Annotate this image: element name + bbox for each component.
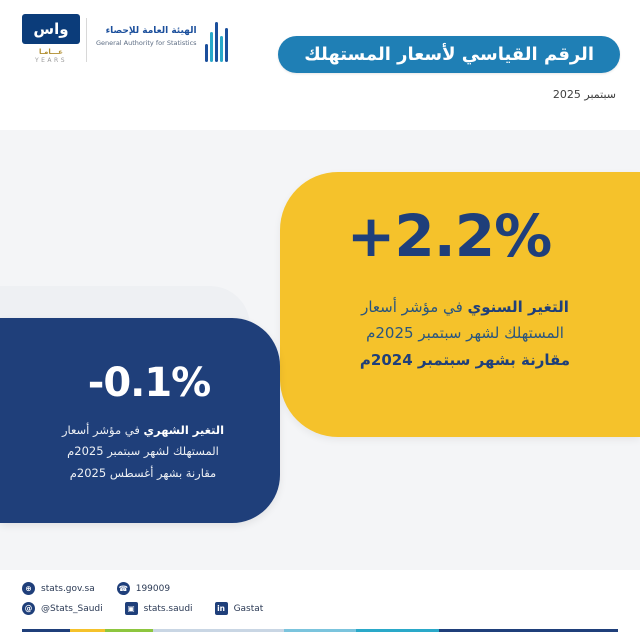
annual-desc-line3: مقارنة بشهر سبتمبر 2024م xyxy=(360,351,570,369)
footer-item-twitter[interactable]: @ @Stats_Saudi xyxy=(22,602,103,615)
gastat-name-block: الهيئة العامة للإحصاء General Authority … xyxy=(96,18,197,47)
monthly-change-value: -0.1% xyxy=(0,360,280,406)
gastat-bars-icon xyxy=(205,18,231,62)
footer: ⊕ stats.gov.sa ☎ 199009 @ @Stats_Saudi ▣… xyxy=(0,570,640,640)
report-month: سبتمبر 2025 xyxy=(553,88,616,101)
header: واس عـــامـا YEARS الهيئة العامة للإحصاء… xyxy=(0,0,640,130)
footer-item-phone[interactable]: ☎ 199009 xyxy=(117,582,170,595)
spa-logo-years: YEARS xyxy=(22,57,80,64)
spa-logo-mark: واس xyxy=(22,14,80,44)
annual-desc-line2: المستهلك لشهر سبتمبر 2025م xyxy=(366,324,564,342)
page-title-text: الرقم القياسي لأسعار المستهلك xyxy=(304,44,594,65)
footer-row-2: @ @Stats_Saudi ▣ stats.saudi in Gastat xyxy=(22,602,263,615)
footer-bar-segment xyxy=(439,629,618,632)
twitter-icon: @ xyxy=(22,602,35,615)
footer-label-website: stats.gov.sa xyxy=(41,584,95,594)
footer-item-instagram[interactable]: ▣ stats.saudi xyxy=(125,602,193,615)
gastat-name-en: General Authority for Statistics xyxy=(96,39,197,47)
linkedin-icon: in xyxy=(215,602,228,615)
spa-logo-group: واس عـــامـا YEARS xyxy=(18,14,80,74)
footer-bar-segment xyxy=(22,629,70,632)
footer-label-twitter: @Stats_Saudi xyxy=(41,604,103,614)
footer-label-instagram: stats.saudi xyxy=(144,604,193,614)
annual-desc-line1-light: في مؤشر أسعار xyxy=(361,298,463,316)
header-divider xyxy=(86,18,87,62)
globe-icon: ⊕ xyxy=(22,582,35,595)
footer-bar-segment xyxy=(284,629,356,632)
monthly-desc-line1-bold: التغير الشهري xyxy=(144,423,225,437)
annual-change-value: +2.2% xyxy=(280,202,640,270)
gastat-logo-group: الهيئة العامة للإحصاء General Authority … xyxy=(96,18,231,62)
footer-bar-segment xyxy=(70,629,106,632)
monthly-desc-line2: المستهلك لشهر سبتمبر 2025م xyxy=(67,444,219,458)
spa-logo-sub: عـــامـا xyxy=(22,48,80,56)
footer-label-phone: 199009 xyxy=(136,584,170,594)
page-title: الرقم القياسي لأسعار المستهلك xyxy=(278,36,620,73)
footer-bar-segment xyxy=(356,629,439,632)
footer-contact-list: ⊕ stats.gov.sa ☎ 199009 @ @Stats_Saudi ▣… xyxy=(22,582,263,615)
monthly-desc-line1-light: في مؤشر أسعار xyxy=(62,423,140,437)
footer-label-linkedin: Gastat xyxy=(234,604,264,614)
footer-bar-segment xyxy=(153,629,284,632)
spa-logo: واس عـــامـا YEARS xyxy=(18,14,80,74)
annual-desc-line1-bold: التغير السنوي xyxy=(468,298,569,316)
footer-row-1: ⊕ stats.gov.sa ☎ 199009 xyxy=(22,582,263,595)
monthly-desc-line3: مقارنة بشهر أغسطس 2025م xyxy=(70,466,216,480)
footer-item-linkedin[interactable]: in Gastat xyxy=(215,602,264,615)
instagram-icon: ▣ xyxy=(125,602,138,615)
monthly-change-description: التغير الشهري في مؤشر أسعار المستهلك لشه… xyxy=(22,420,264,484)
footer-item-website[interactable]: ⊕ stats.gov.sa xyxy=(22,582,95,595)
footer-color-bar xyxy=(22,629,618,632)
gastat-name-ar: الهيئة العامة للإحصاء xyxy=(96,26,197,36)
annual-change-card: +2.2% التغير السنوي في مؤشر أسعار المسته… xyxy=(280,172,640,437)
annual-change-description: التغير السنوي في مؤشر أسعار المستهلك لشه… xyxy=(314,294,616,373)
phone-icon: ☎ xyxy=(117,582,130,595)
monthly-change-card: -0.1% التغير الشهري في مؤشر أسعار المسته… xyxy=(0,318,280,523)
infographic-canvas: واس عـــامـا YEARS الهيئة العامة للإحصاء… xyxy=(0,0,640,640)
footer-bar-segment xyxy=(105,629,153,632)
